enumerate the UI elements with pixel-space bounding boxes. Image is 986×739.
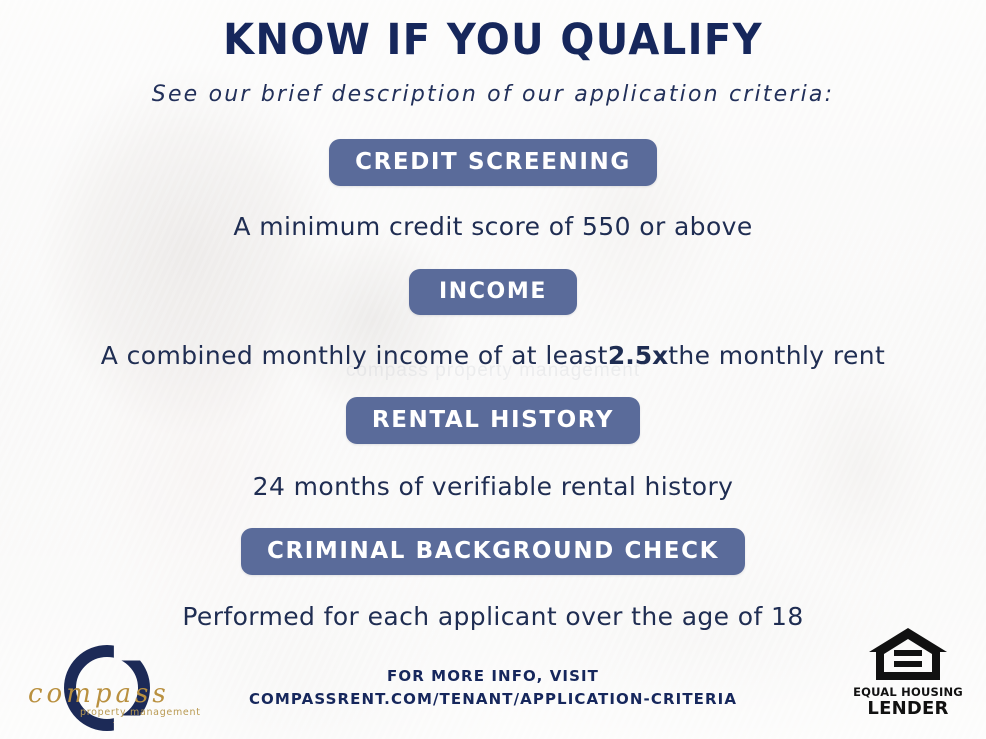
criteria-description-criminal-background-check: Performed for each applicant over the ag… <box>0 602 986 631</box>
compass-logo-tagline: property management <box>80 707 210 718</box>
badge-credit-screening: CREDIT SCREENING <box>329 139 657 186</box>
compass-logo-script: compass <box>28 679 204 709</box>
page-subtitle: See our brief description of our applica… <box>0 82 986 107</box>
equal-housing-house-icon <box>866 626 950 684</box>
income-description-prefix: A combined monthly income of at least <box>101 341 608 370</box>
criteria-description-rental-history: 24 months of verifiable rental history <box>0 472 986 501</box>
criteria-badge-row-criminal-background-check: CRIMINAL BACKGROUND CHECK <box>0 528 986 575</box>
equal-housing-lender-logo: EQUAL HOUSING LENDER <box>852 626 964 719</box>
qualification-criteria-poster: compass property management KNOW IF YOU … <box>0 0 986 739</box>
income-multiplier: 2.5x <box>608 341 668 370</box>
income-description-suffix: the monthly rent <box>668 341 885 370</box>
page-title: KNOW IF YOU QUALIFY <box>35 18 952 63</box>
badge-criminal-background-check: CRIMINAL BACKGROUND CHECK <box>241 528 745 575</box>
poster-content: KNOW IF YOU QUALIFY See our brief descri… <box>0 0 986 739</box>
criteria-badge-row-rental-history: RENTAL HISTORY <box>0 397 986 444</box>
criteria-description-credit-screening: A minimum credit score of 550 or above <box>0 212 986 241</box>
equal-housing-label-line-2: LENDER <box>852 699 964 719</box>
criteria-badge-row-income: INCOME <box>0 269 986 315</box>
criteria-description-income: A combined monthly income of at least2.5… <box>0 341 986 370</box>
badge-rental-history: RENTAL HISTORY <box>346 397 640 444</box>
compass-property-management-logo: compass property management <box>22 641 202 737</box>
criteria-badge-row-credit-screening: CREDIT SCREENING <box>0 139 986 186</box>
badge-income: INCOME <box>409 269 577 315</box>
